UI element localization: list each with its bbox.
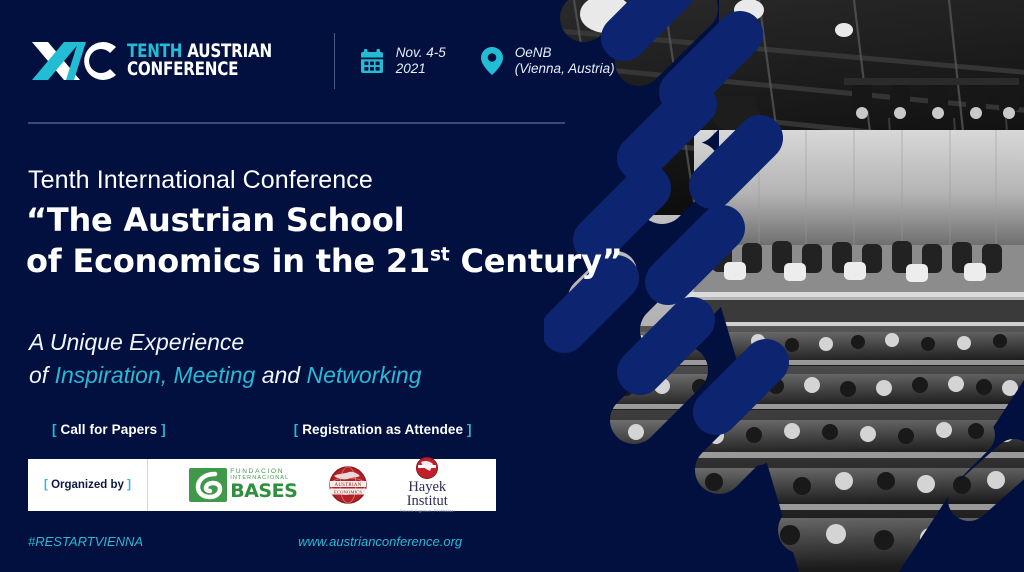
conference-date: Nov. 4-5 2021	[359, 45, 446, 78]
venue-line-2: (Vienna, Austria)	[515, 61, 615, 77]
footer-hashtag[interactable]: #RESTARTVIENNA	[28, 534, 143, 549]
tagline-word-meeting: Meeting	[173, 362, 255, 388]
header-divider	[334, 33, 335, 89]
conference-kicker: Tenth International Conference	[28, 166, 373, 195]
hayek-tagline: Freiheit, Eigentum, Rechtsstaat	[400, 509, 455, 513]
hayek-name-line-1: Hayek	[407, 480, 448, 494]
aec-banner-line-1: AUSTRIAN	[335, 483, 362, 488]
tagline-comma: ,	[161, 362, 174, 388]
brand-logo[interactable]: TENTH AUSTRIAN CONFERENCE	[28, 38, 304, 84]
conference-tagline: A Unique Experience of Inspiration, Meet…	[29, 326, 422, 391]
tagline-of: of	[29, 362, 55, 388]
venue-text: OeNB (Vienna, Austria)	[515, 45, 615, 78]
aec-banner-line-2: ECONOMICS	[335, 489, 363, 494]
tagline-word-inspiration: Inspiration	[55, 362, 161, 388]
logo-word-conference: CONFERENCE	[127, 61, 272, 79]
hayek-name-line-2: Institut	[407, 494, 448, 508]
poster-content: TENTH AUSTRIAN CONFERENCE	[0, 0, 640, 572]
conference-venue: OeNB (Vienna, Austria)	[480, 45, 615, 78]
title-ordinal-suffix: st	[430, 244, 450, 265]
sponsor-logo-hayek-institut[interactable]: Hayek Institut Freiheit, Eigentum, Recht…	[400, 457, 455, 513]
tagline-and: and	[255, 362, 306, 388]
registration-label: Registration as Attendee	[302, 422, 463, 437]
call-for-papers-label: Call for Papers	[60, 422, 157, 437]
bracket-close-icon: ]	[127, 479, 131, 491]
bases-wordmark: FUNDACION INTERNACIONAL BASES	[230, 469, 297, 502]
date-line-2: 2021	[396, 61, 446, 77]
organized-by-cell: [ Organized by ]	[28, 459, 148, 511]
bases-b-mark-icon	[189, 468, 227, 502]
bracket-open-icon: [	[44, 479, 48, 491]
tagline-line-1: A Unique Experience	[29, 326, 422, 359]
hayek-wordmark: Hayek Institut	[407, 480, 448, 508]
cta-row: [ Call for Papers ] [ Registration as At…	[52, 422, 472, 437]
title-line-2-pre: of Economics in the 21	[26, 242, 430, 280]
registration-link[interactable]: [ Registration as Attendee ]	[294, 422, 472, 437]
venue-line-1: OeNB	[515, 45, 615, 61]
sponsor-logo-bases[interactable]: FUNDACION INTERNACIONAL BASES	[189, 468, 297, 502]
header-rule-divider	[28, 122, 565, 124]
date-text: Nov. 4-5 2021	[396, 45, 446, 78]
organized-by-label: [ Organized by ]	[44, 479, 131, 491]
sponsor-logos: FUNDACION INTERNACIONAL BASES	[148, 459, 496, 511]
tagline-line-2: of Inspiration, Meeting and Networking	[29, 359, 422, 392]
title-line-2: of Economics in the 21st Century”	[26, 241, 623, 282]
calendar-icon	[359, 48, 385, 75]
footer-website-url[interactable]: www.austrianconference.org	[298, 534, 462, 549]
call-for-papers-link[interactable]: [ Call for Papers ]	[52, 422, 166, 437]
bracket-open-icon: [	[52, 422, 57, 437]
title-line-2-post: Century”	[450, 242, 623, 280]
map-pin-icon	[480, 46, 504, 76]
title-line-1: “The Austrian School	[26, 200, 623, 241]
aec-globe-icon: AUSTRIAN ECONOMICS	[328, 466, 368, 504]
organizers-bar: [ Organized by ] FUNDACION INTERNACIONAL…	[28, 459, 496, 511]
logo-wordmark: TENTH AUSTRIAN CONFERENCE	[127, 43, 304, 79]
bases-main-line: BASES	[230, 482, 297, 501]
header-bar: TENTH AUSTRIAN CONFERENCE	[28, 33, 615, 89]
page-title: “The Austrian School of Economics in the…	[26, 200, 623, 282]
bracket-close-icon: ]	[467, 422, 472, 437]
footer-bar: #RESTARTVIENNA www.austrianconference.or…	[28, 534, 588, 549]
organized-by-text: Organized by	[51, 479, 124, 491]
tagline-word-networking: Networking	[306, 362, 421, 388]
bracket-open-icon: [	[294, 422, 299, 437]
date-line-1: Nov. 4-5	[396, 45, 446, 61]
hayek-emblem-icon	[414, 457, 440, 479]
sponsor-logo-austrian-economics-center[interactable]: AUSTRIAN ECONOMICS	[328, 466, 368, 504]
bracket-close-icon: ]	[161, 422, 166, 437]
xac-monogram-icon	[28, 38, 120, 84]
